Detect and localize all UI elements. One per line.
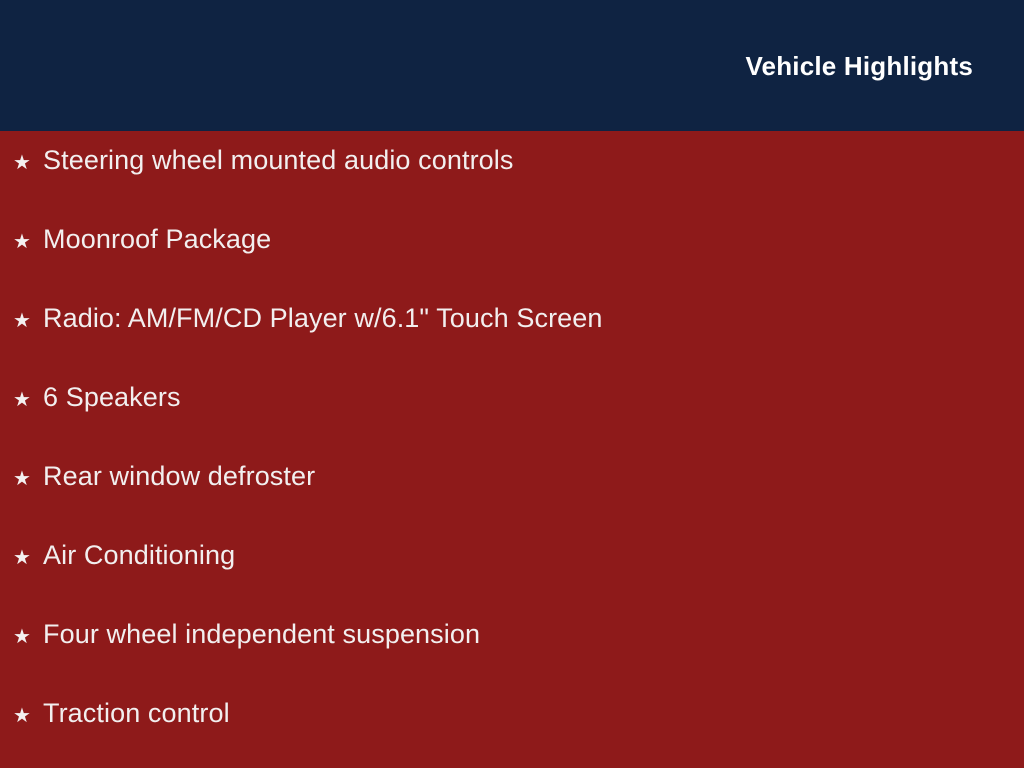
list-item-label: Rear window defroster: [43, 463, 1024, 490]
list-item: ★ Moonroof Package: [0, 226, 1024, 305]
slide-body: ★ Steering wheel mounted audio controls …: [0, 131, 1024, 768]
star-icon: ★: [13, 548, 43, 568]
vehicle-highlights-list: ★ Steering wheel mounted audio controls …: [0, 147, 1024, 768]
vehicle-highlights-slide: Vehicle Highlights ★ Steering wheel moun…: [0, 0, 1024, 768]
star-icon: ★: [13, 311, 43, 331]
list-item-label: Four wheel independent suspension: [43, 621, 1024, 648]
slide-header: Vehicle Highlights: [0, 0, 1024, 131]
list-item: ★ Radio: AM/FM/CD Player w/6.1" Touch Sc…: [0, 305, 1024, 384]
list-item: ★ Steering wheel mounted audio controls: [0, 147, 1024, 226]
star-icon: ★: [13, 153, 43, 173]
list-item-label: Radio: AM/FM/CD Player w/6.1" Touch Scre…: [43, 305, 1024, 332]
list-item: ★ Rear window defroster: [0, 463, 1024, 542]
list-item-label: Moonroof Package: [43, 226, 1024, 253]
page-title: Vehicle Highlights: [745, 53, 973, 79]
star-icon: ★: [13, 706, 43, 726]
star-icon: ★: [13, 627, 43, 647]
list-item-label: Traction control: [43, 700, 1024, 727]
list-item-label: 6 Speakers: [43, 384, 1024, 411]
list-item-label: Air Conditioning: [43, 542, 1024, 569]
star-icon: ★: [13, 232, 43, 252]
list-item: ★ Traction control: [0, 700, 1024, 768]
list-item-label: Steering wheel mounted audio controls: [43, 147, 1024, 174]
star-icon: ★: [13, 390, 43, 410]
list-item: ★ Air Conditioning: [0, 542, 1024, 621]
list-item: ★ 6 Speakers: [0, 384, 1024, 463]
star-icon: ★: [13, 469, 43, 489]
list-item: ★ Four wheel independent suspension: [0, 621, 1024, 700]
